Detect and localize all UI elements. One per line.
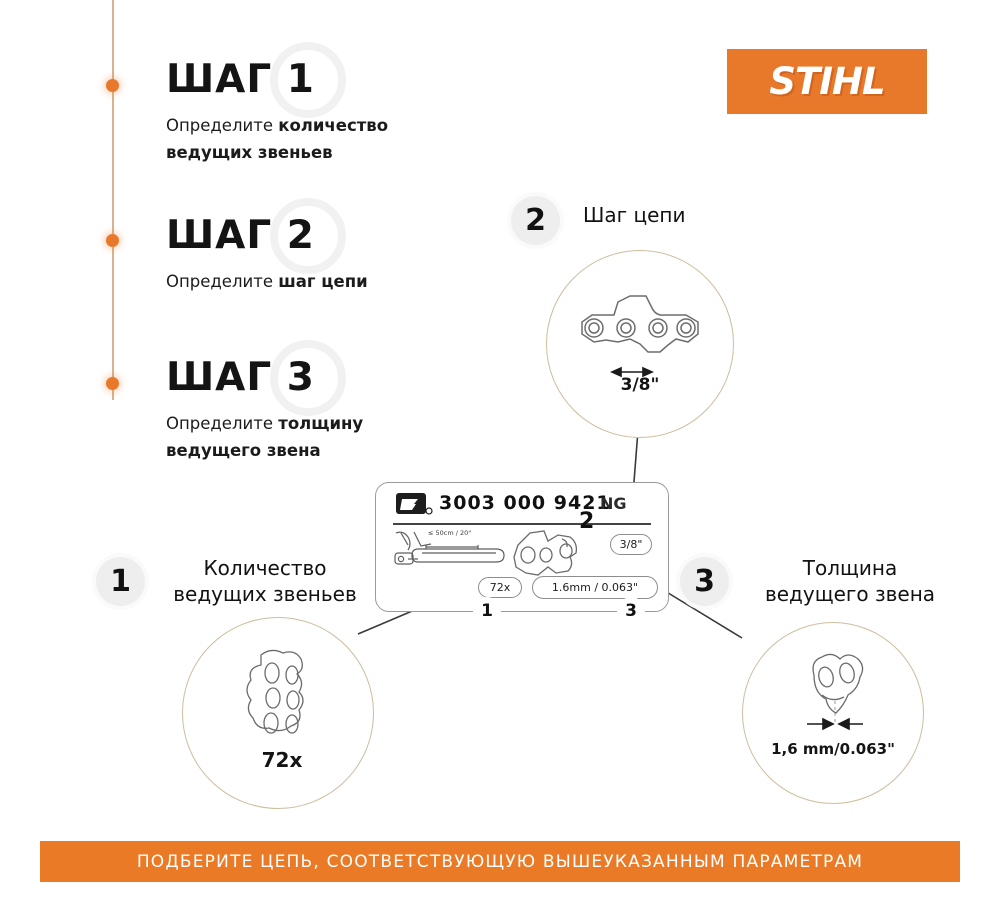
gauge-title-line1: Толщина bbox=[737, 556, 963, 582]
stihl-logo: STIHL bbox=[727, 49, 927, 114]
label-type-code: NG bbox=[600, 494, 627, 513]
step-2-desc-plain: Определите bbox=[166, 272, 278, 291]
step-3-title-text: ШАГ 3 bbox=[166, 355, 315, 400]
stihl-logo-text: STIHL bbox=[769, 60, 884, 103]
bottom-banner-text: ПОДБЕРИТЕ ЦЕПЬ, СООТВЕТСТВУЮЩУЮ ВЫШЕУКАЗ… bbox=[137, 852, 863, 872]
drive-links-title-line2: ведущих звеньев bbox=[152, 582, 378, 608]
gauge-value-text: 1,6 mm/0.063" bbox=[771, 740, 895, 758]
badge-3: 3 bbox=[680, 557, 729, 606]
label-links-oval: 72x bbox=[478, 577, 522, 598]
timeline-dot-1 bbox=[106, 79, 119, 92]
product-label-card: 3003 000 9421 NG 2 ≤ 50cm / 20" bbox=[375, 482, 669, 612]
label-links-oval-text: 72x bbox=[490, 581, 511, 594]
gauge-arrow-icon bbox=[793, 713, 877, 735]
step-2-title-text: ШАГ 2 bbox=[166, 213, 315, 258]
drive-links-value: 72x bbox=[232, 748, 332, 772]
label-gauge-oval-text: 1.6mm / 0.063" bbox=[552, 581, 638, 594]
step-3-desc-plain: Определите bbox=[166, 414, 278, 433]
drive-links-title-line1: Количество bbox=[152, 556, 378, 582]
label-edge-number-3-text: 3 bbox=[625, 601, 637, 621]
badge-1-number: 1 bbox=[110, 564, 131, 599]
badge-2-number: 2 bbox=[525, 203, 546, 238]
step-1-title-text: ШАГ 1 bbox=[166, 57, 315, 102]
label-pitch-oval-text: 3/8" bbox=[620, 538, 643, 551]
drive-links-callout-title: Количество ведущих звеньев bbox=[152, 556, 378, 607]
label-pitch-oval: 3/8" bbox=[610, 534, 652, 555]
label-gauge-oval: 1.6mm / 0.063" bbox=[532, 576, 658, 599]
pitch-value-text: 3/8" bbox=[621, 375, 660, 395]
badge-2: 2 bbox=[511, 196, 560, 245]
label-edge-number-1-text: 1 bbox=[481, 601, 493, 621]
step-2-description: Определите шаг цепи bbox=[166, 268, 368, 295]
step-3-title: ШАГ 3 bbox=[166, 358, 426, 397]
step-3: ШАГ 3 Определите толщину ведущего звена bbox=[166, 358, 426, 464]
label-bar-length: ≤ 50cm / 20" bbox=[428, 529, 471, 537]
step-1-description: Определите количество ведущих звеньев bbox=[166, 112, 426, 166]
step-2-desc-bold: шаг цепи bbox=[278, 272, 367, 291]
pitch-value: 3/8" bbox=[586, 375, 694, 395]
drive-links-drawing bbox=[245, 645, 315, 750]
step-1-desc-plain: Определите bbox=[166, 116, 278, 135]
gauge-callout-title: Толщина ведущего звена bbox=[737, 556, 963, 607]
drive-links-value-text: 72x bbox=[262, 748, 303, 772]
timeline-dot-3 bbox=[106, 377, 119, 390]
timeline-dot-2 bbox=[106, 234, 119, 247]
timeline-line bbox=[112, 0, 114, 400]
badge-1: 1 bbox=[96, 557, 145, 606]
label-edge-number-1: 1 bbox=[473, 597, 501, 625]
bottom-banner: ПОДБЕРИТЕ ЦЕПЬ, СООТВЕТСТВУЮЩУЮ ВЫШЕУКАЗ… bbox=[40, 841, 960, 882]
label-logo-icon bbox=[395, 492, 433, 518]
pitch-callout-title: Шаг цепи bbox=[583, 203, 783, 229]
step-1-title: ШАГ 1 bbox=[166, 60, 426, 99]
label-edge-number-3: 3 bbox=[617, 597, 645, 625]
step-1: ШАГ 1 Определите количество ведущих звен… bbox=[166, 60, 426, 166]
gauge-title-line2: ведущего звена bbox=[737, 582, 963, 608]
step-2: ШАГ 2 Определите шаг цепи bbox=[166, 216, 368, 295]
pitch-callout-title-text: Шаг цепи bbox=[583, 203, 686, 227]
gauge-value: 1,6 mm/0.063" bbox=[752, 740, 914, 758]
step-2-title: ШАГ 2 bbox=[166, 216, 368, 255]
badge-3-number: 3 bbox=[694, 564, 715, 599]
infographic-page: ШАГ 1 Определите количество ведущих звен… bbox=[0, 0, 1000, 900]
step-3-description: Определите толщину ведущего звена bbox=[166, 410, 426, 464]
